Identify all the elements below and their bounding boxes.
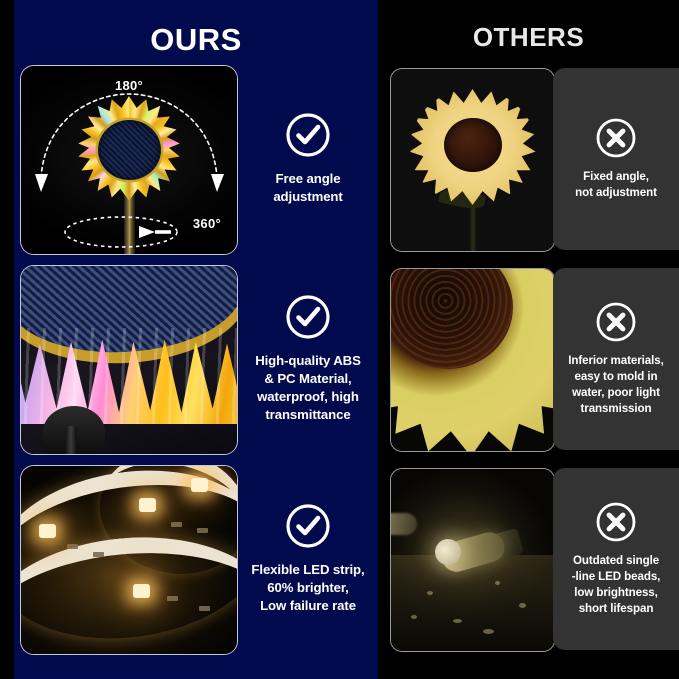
rotation-angle-label: 360° — [193, 216, 221, 231]
ours-feature-2-caption: High-quality ABS & PC Material, waterpro… — [251, 352, 365, 425]
caption-line: High-quality ABS — [255, 352, 361, 370]
ours-column-title: OURS — [14, 24, 378, 55]
ours-feature-3: Flexible LED strip, 60% brighter, Low fa… — [238, 462, 378, 656]
caption-line: Free angle — [273, 170, 342, 188]
tilt-angle-label: 180° — [21, 78, 237, 93]
others-column-title: OTHERS — [378, 24, 679, 50]
caption-line: transmittance — [255, 406, 361, 424]
water-droplet — [519, 603, 526, 608]
water-droplet — [483, 629, 494, 634]
comparison-row-1: 180° 360° Free angle adjustment — [0, 62, 679, 256]
led-chip — [167, 596, 178, 601]
others-feature-2: Inferior materials, easy to mold in wate… — [553, 268, 679, 450]
ours-feature-1-caption: Free angle adjustment — [269, 170, 346, 206]
ours-image-card-2 — [20, 265, 238, 455]
rotation-diagram-art: 180° 360° — [21, 66, 237, 254]
glowing-led — [39, 524, 56, 538]
x-circle-icon — [595, 501, 637, 543]
x-circle-icon — [595, 117, 637, 159]
caption-line: short lifespan — [572, 601, 661, 617]
caption-line: Flexible LED strip, — [251, 561, 364, 579]
wet-led-bulb-art — [391, 469, 554, 651]
ours-feature-2: High-quality ABS & PC Material, waterpro… — [238, 262, 378, 456]
water-droplet — [453, 619, 462, 623]
glowing-led — [191, 478, 208, 492]
others-feature-3-caption: Outdated single -line LED beads, low bri… — [567, 553, 666, 618]
water-droplet — [495, 581, 500, 585]
check-circle-icon — [285, 112, 331, 158]
led-chip — [199, 606, 210, 611]
caption-line: not adjustment — [575, 185, 657, 201]
comparison-infographic: OURS OTHERS 180° — [0, 0, 679, 679]
ours-image-card-3 — [20, 465, 238, 655]
others-image-card-1 — [390, 68, 555, 252]
led-chip — [171, 522, 182, 527]
others-image-card-2 — [390, 268, 555, 452]
caption-line: waterproof, high — [255, 388, 361, 406]
ours-image-card-1: 180° 360° — [20, 65, 238, 255]
caption-line: easy to mold in — [568, 369, 663, 385]
caption-line: low brightness, — [572, 585, 661, 601]
led-strip-art — [21, 466, 237, 654]
led-chip — [67, 544, 78, 549]
background-led-bulb — [390, 513, 417, 535]
glowing-led — [133, 584, 150, 598]
caption-line: Inferior materials, — [568, 353, 663, 369]
caption-line: -line LED beads, — [572, 569, 661, 585]
caption-line: Low failure rate — [251, 597, 364, 615]
header-row: OURS OTHERS — [0, 0, 679, 62]
led-chip — [93, 552, 104, 557]
sunflower-center — [444, 118, 502, 172]
sunflower-head — [410, 89, 536, 205]
others-feature-2-caption: Inferior materials, easy to mold in wate… — [563, 353, 668, 418]
caption-line: adjustment — [273, 188, 342, 206]
water-droplet — [411, 615, 417, 619]
wet-ground — [391, 555, 554, 651]
caption-line: transmission — [568, 401, 663, 417]
check-circle-icon — [285, 503, 331, 549]
caption-line: water, poor light — [568, 385, 663, 401]
petal-closeup-art — [21, 266, 237, 454]
caption-line: Outdated single — [572, 553, 661, 569]
light-stem — [65, 426, 77, 455]
petal-sheen-overlay — [20, 328, 238, 424]
ours-feature-1: Free angle adjustment — [238, 62, 378, 256]
led-chip — [197, 528, 208, 533]
others-feature-1: Fixed angle, not adjustment — [553, 68, 679, 250]
comparison-row-2: High-quality ABS & PC Material, waterpro… — [0, 262, 679, 456]
others-image-card-3 — [390, 468, 555, 652]
sunflower-closeup-art — [391, 269, 554, 451]
ours-feature-3-caption: Flexible LED strip, 60% brighter, Low fa… — [247, 561, 368, 616]
caption-line: & PC Material, — [255, 370, 361, 388]
water-droplet — [427, 591, 433, 595]
x-circle-icon — [595, 301, 637, 343]
others-feature-1-caption: Fixed angle, not adjustment — [570, 169, 662, 201]
comparison-row-3: Flexible LED strip, 60% brighter, Low fa… — [0, 462, 679, 656]
others-feature-3: Outdated single -line LED beads, low bri… — [553, 468, 679, 650]
check-circle-icon — [285, 294, 331, 340]
plain-sunflower-art — [391, 69, 554, 251]
glowing-led — [139, 498, 156, 512]
caption-line: 60% brighter, — [251, 579, 364, 597]
caption-line: Fixed angle, — [575, 169, 657, 185]
